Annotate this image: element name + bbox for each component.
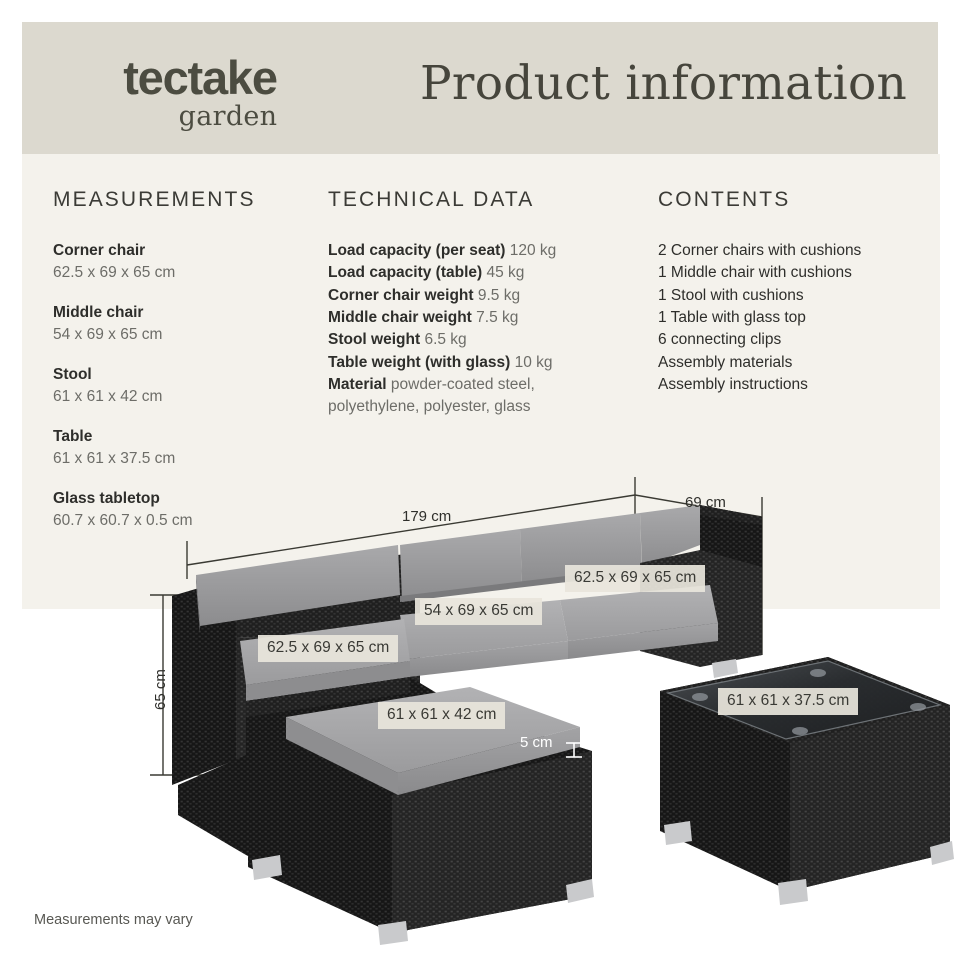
measurement-value: 62.5 x 69 x 65 cm xyxy=(53,262,308,284)
technical-value: 45 kg xyxy=(487,264,525,281)
technical-value: 9.5 kg xyxy=(478,287,520,304)
technical-value: 6.5 kg xyxy=(424,331,466,348)
page-title: Product information xyxy=(420,56,907,111)
technical-row: Middle chair weight 7.5 kg xyxy=(328,307,628,329)
brand-logo: tectake garden xyxy=(75,54,325,130)
measurement-value: 54 x 69 x 65 cm xyxy=(53,324,308,346)
contents-item: 6 connecting clips xyxy=(658,329,938,351)
technical-label: Table weight (with glass) xyxy=(328,354,510,371)
technical-data-heading: TECHNICAL DATA xyxy=(328,188,628,212)
callout-corner-chair-right: 62.5 x 69 x 65 cm xyxy=(565,565,705,592)
measurement-item: Middle chair 54 x 69 x 65 cm xyxy=(53,302,308,347)
brand-sub: garden xyxy=(75,103,325,130)
technical-label: Load capacity (table) xyxy=(328,264,482,281)
measurement-name: Stool xyxy=(53,364,308,386)
technical-label: Stool weight xyxy=(328,331,420,348)
contents-item: 2 Corner chairs with cushions xyxy=(658,240,938,262)
measurements-heading: MEASUREMENTS xyxy=(53,188,308,212)
dimension-label-cushion-thickness: 5 cm xyxy=(520,734,553,751)
contents-item: 1 Table with glass top xyxy=(658,307,938,329)
technical-row: Material powder-coated steel, xyxy=(328,374,628,396)
technical-label: Middle chair weight xyxy=(328,309,472,326)
footer-note: Measurements may vary xyxy=(34,912,193,928)
measurement-item: Stool 61 x 61 x 42 cm xyxy=(53,364,308,409)
contents-column: CONTENTS 2 Corner chairs with cushions 1… xyxy=(658,188,938,396)
technical-row: Load capacity (table) 45 kg xyxy=(328,262,628,284)
technical-row: Load capacity (per seat) 120 kg xyxy=(328,240,628,262)
contents-item: 1 Middle chair with cushions xyxy=(658,262,938,284)
technical-value: 10 kg xyxy=(515,354,553,371)
technical-label: Corner chair weight xyxy=(328,287,474,304)
callout-table: 61 x 61 x 37.5 cm xyxy=(718,688,858,715)
contents-heading: CONTENTS xyxy=(658,188,938,212)
technical-row: Corner chair weight 9.5 kg xyxy=(328,285,628,307)
technical-material-continued: polyethylene, polyester, glass xyxy=(328,396,628,418)
dimension-label-width: 179 cm xyxy=(402,508,451,525)
contents-item: 1 Stool with cushions xyxy=(658,285,938,307)
technical-label: Load capacity (per seat) xyxy=(328,242,505,259)
callout-corner-chair-left: 62.5 x 69 x 65 cm xyxy=(258,635,398,662)
measurement-name: Middle chair xyxy=(53,302,308,324)
technical-row: Stool weight 6.5 kg xyxy=(328,329,628,351)
technical-data-column: TECHNICAL DATA Load capacity (per seat) … xyxy=(328,188,628,419)
callout-stool: 61 x 61 x 42 cm xyxy=(378,702,505,729)
measurement-name: Corner chair xyxy=(53,240,308,262)
technical-row: Table weight (with glass) 10 kg xyxy=(328,352,628,374)
dimension-label-height: 65 cm xyxy=(152,669,169,710)
measurement-value: 61 x 61 x 42 cm xyxy=(53,386,308,408)
technical-label: Material xyxy=(328,376,387,393)
product-information-sheet: tectake garden Product information MEASU… xyxy=(0,0,960,960)
callout-middle-chair: 54 x 69 x 65 cm xyxy=(415,598,542,625)
technical-value: powder-coated steel, xyxy=(391,376,535,393)
measurement-name: Table xyxy=(53,426,308,448)
technical-value: 120 kg xyxy=(510,242,557,259)
contents-item: Assembly materials xyxy=(658,352,938,374)
contents-item: Assembly instructions xyxy=(658,374,938,396)
brand-name: tectake xyxy=(75,54,325,101)
dimension-label-depth: 69 cm xyxy=(685,494,726,511)
measurement-item: Corner chair 62.5 x 69 x 65 cm xyxy=(53,240,308,285)
technical-value: 7.5 kg xyxy=(476,309,518,326)
